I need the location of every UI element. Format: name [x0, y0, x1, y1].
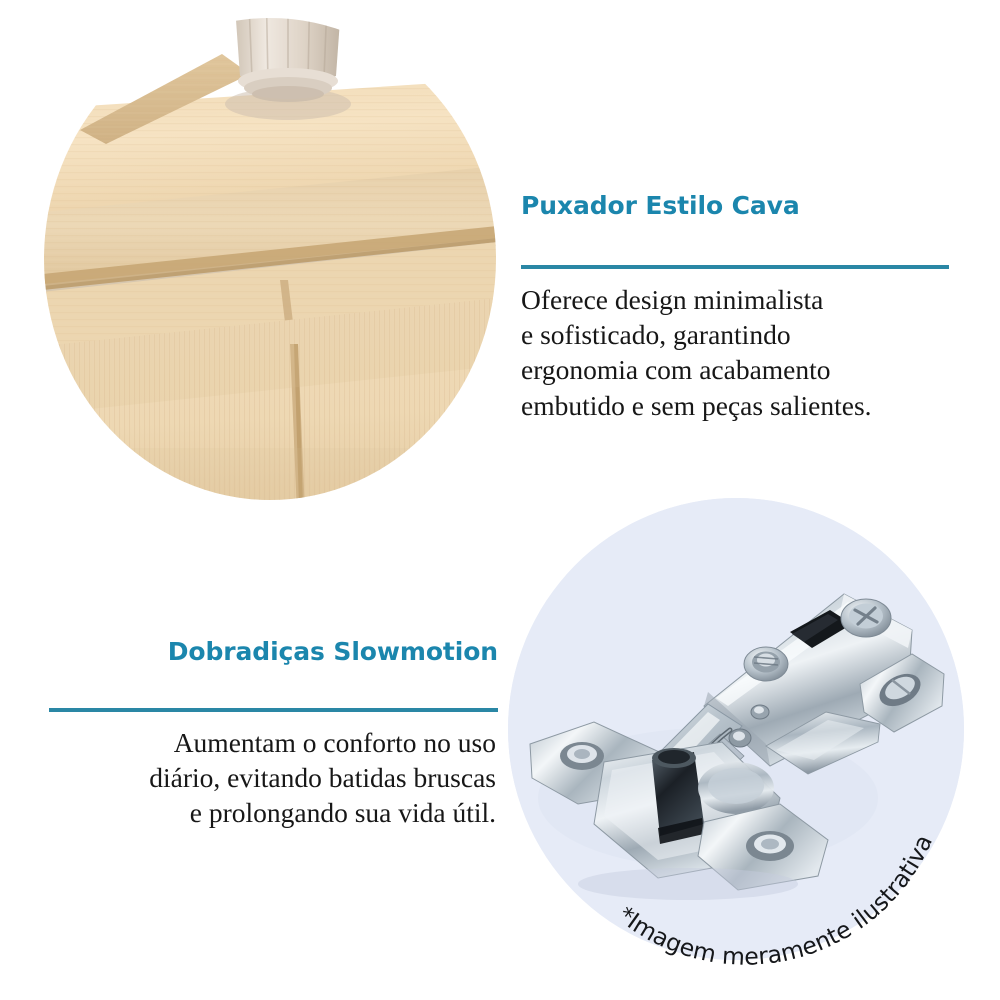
product-feature-infographic: *Imagem meramente ilustrativa Puxador Es… — [0, 0, 1000, 1000]
slowmotion-hinge-photo — [508, 498, 964, 960]
feature-block-dobradicas: Dobradiças Slowmotion Aumentam o confort… — [34, 638, 498, 831]
feature-body-puxador: Oferece design minimalista e sofisticado… — [521, 269, 991, 424]
furniture-cabinet-photo — [44, 18, 496, 500]
feature-body-dobradicas: Aumentam o conforto no uso diário, evita… — [34, 712, 498, 831]
feature-heading-dobradicas: Dobradiças Slowmotion — [34, 638, 498, 666]
feature-block-puxador: Puxador Estilo Cava Oferece design minim… — [521, 192, 991, 423]
feature-heading-puxador: Puxador Estilo Cava — [521, 192, 991, 220]
